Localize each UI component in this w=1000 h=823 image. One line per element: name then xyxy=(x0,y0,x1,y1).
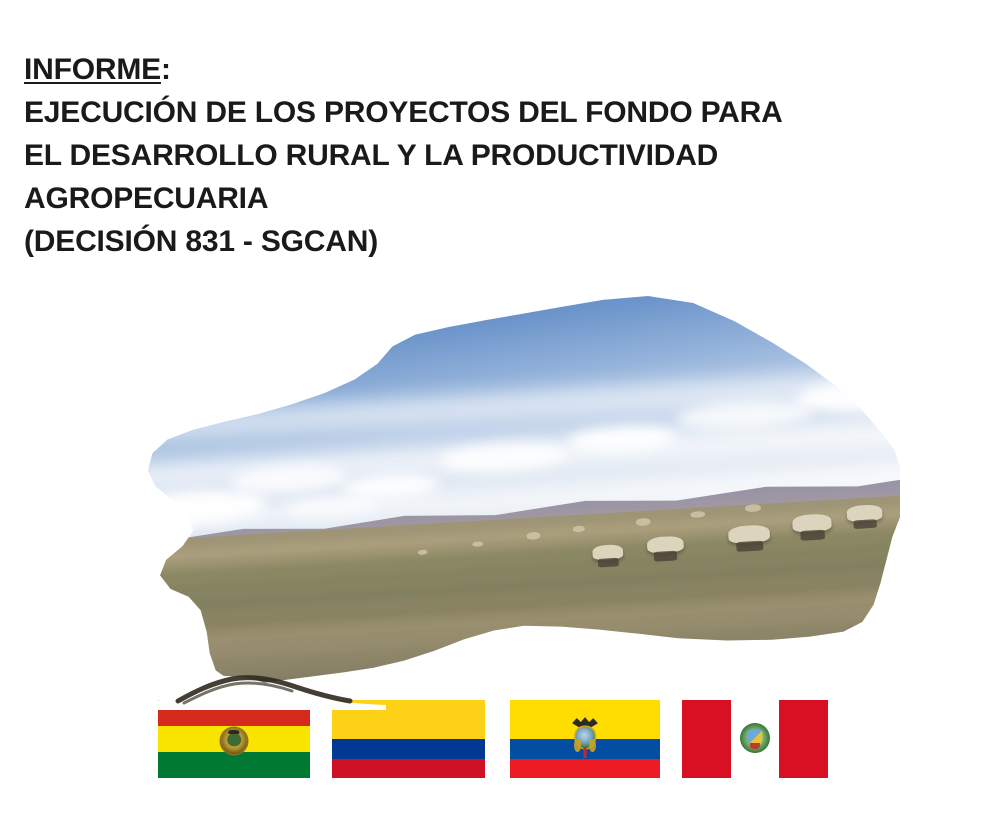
country-flags-row xyxy=(158,700,838,778)
flag-ecuador-icon xyxy=(510,700,660,778)
title-line-4: (DECISIÓN 831 - SGCAN) xyxy=(24,220,924,263)
flag-bolivia-icon xyxy=(158,700,310,778)
bolivia-coat-of-arms xyxy=(221,728,247,754)
page-title: INFORME: EJECUCIÓN DE LOS PROYECTOS DEL … xyxy=(24,48,924,263)
flag-colombia-icon xyxy=(332,700,485,778)
flag-band-red xyxy=(510,759,660,779)
grazing-animal xyxy=(847,505,883,522)
flag-band-yellow xyxy=(332,700,485,739)
flag-band-green xyxy=(158,752,310,778)
ground-streak xyxy=(148,633,900,684)
flag-band-red xyxy=(158,700,310,726)
ecuador-coat-of-arms xyxy=(570,717,600,759)
grazing-animal xyxy=(728,524,769,543)
title-heading-label: INFORME xyxy=(24,53,161,86)
grazing-animal xyxy=(792,514,831,533)
cloud-puff xyxy=(148,510,196,540)
title-heading-colon: : xyxy=(161,53,171,86)
flag-band-red-left xyxy=(682,700,731,778)
grazing-animal xyxy=(646,535,684,553)
flag-band-red-right xyxy=(779,700,828,778)
title-line-2: EL DESARROLLO RURAL Y LA PRODUCTIVIDAD xyxy=(24,134,924,177)
flag-band-blue xyxy=(332,739,485,759)
flag-peru-icon xyxy=(682,700,828,778)
grazing-animal xyxy=(636,518,651,526)
grazing-animal xyxy=(592,544,624,560)
landscape-scene xyxy=(148,296,900,684)
landscape-photo xyxy=(148,296,900,684)
title-line-1: EJECUCIÓN DE LOS PROYECTOS DEL FONDO PAR… xyxy=(24,91,924,134)
title-line-3: AGROPECUARIA xyxy=(24,177,924,220)
title-line-heading: INFORME: xyxy=(24,48,924,91)
flag-band-red xyxy=(332,759,485,779)
landscape-photo-clip xyxy=(148,296,900,684)
peru-coat-of-arms xyxy=(740,723,770,753)
